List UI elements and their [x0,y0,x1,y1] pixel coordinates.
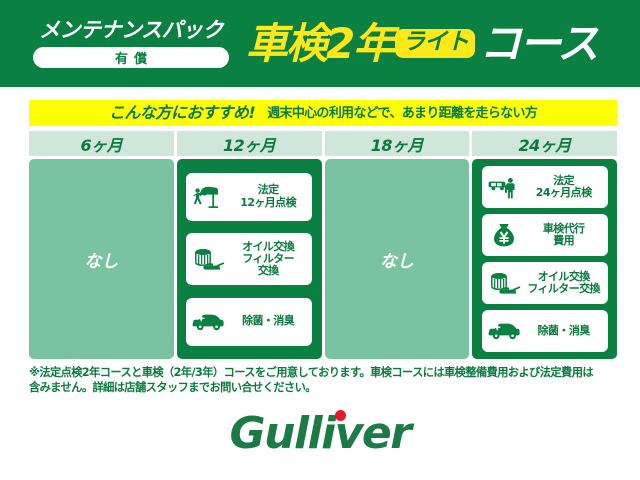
service-card-legal-12month-inspection: 法定 12ヶ月点検 [186,173,312,221]
paid-badge: 有償 [33,47,229,68]
service-label-legal-12month-inspection: 法定 12ヶ月点検 [227,184,309,209]
oil-filter-change-icon [485,268,523,298]
service-label-legal-24month-inspection: 法定 24ヶ月点検 [523,175,605,200]
service-card-inspection-agency-fee: 車検代行 費用 [482,214,608,256]
service-card-oil-filter-change-24m: オイル交換 フィルター交換 [482,262,608,304]
oil-filter-change-icon [189,244,227,274]
column-body-18months: なし [325,159,470,359]
recommendation-detail: 週末中心の利用などで、あまり距離を走らない方 [267,107,537,120]
footnote-line-1: ※法定点検2年コースと車検（2年/3年）コースをご用意しております。車検コースに… [29,366,621,381]
column-header-24months: 24ヶ月 [472,131,617,156]
column-header-6months: 6ヶ月 [29,131,174,156]
service-card-oil-filter-change-12m: オイル交換 フィルター 交換 [186,233,312,285]
gulliver-logo-dot-icon [335,410,346,421]
footnote: ※法定点検2年コースと車検（2年/3年）コースをご用意しております。車検コースに… [29,366,621,396]
column-header-18months: 18ヶ月 [325,131,470,156]
plan-column-18months: 18ヶ月 なし [325,131,470,359]
promo-page: メンテナンスパック 有償 車検2年 ライト コース こんな方におすすめ! 週末中… [0,0,640,480]
course-shaken-2year-text: 車検2年 [246,23,393,65]
header-band: メンテナンスパック 有償 車検2年 ライト コース [0,0,640,87]
header-course-group: 車検2年 ライト コース [246,23,640,65]
header-left-group: メンテナンスパック 有償 [22,20,240,68]
car-lift-inspection-icon [189,182,227,212]
plan-column-6months: 6ヶ月 なし [29,131,174,359]
recommendation-headline: こんな方におすすめ! [109,105,255,121]
gulliver-logo-text: Gulliver [230,408,411,459]
maintenance-pack-title: メンテナンスパック [39,20,223,41]
car-sparkle-icon [189,307,227,337]
course-suffix-text: コース [479,23,597,65]
brand-logo-area: Gulliver [0,412,640,456]
car-sparkle-icon [485,316,523,346]
column-body-12months: 法定 12ヶ月点検 [177,159,322,359]
service-card-legal-24month-inspection: 法定 24ヶ月点検 [482,166,608,208]
car-person-inspection-icon [485,172,523,202]
service-label-oil-filter-change-24m: オイル交換 フィルター交換 [523,271,605,296]
plan-table: 6ヶ月 なし 12ヶ月 [29,131,617,359]
service-label-sanitize-deodorize-24m: 除菌・消臭 [523,325,605,337]
none-label-18months: なし [380,247,414,272]
service-card-sanitize-deodorize-24m: 除菌・消臭 [482,310,608,352]
footnote-line-2: 含みません。詳細は店舗スタッフまでお問い合せください。 [29,381,621,396]
plan-column-12months: 12ヶ月 [177,131,322,359]
gulliver-logo: Gulliver [230,412,411,456]
column-header-12months: 12ヶ月 [177,131,322,156]
service-label-oil-filter-change-12m: オイル交換 フィルター 交換 [227,241,309,278]
service-card-sanitize-deodorize-12m: 除菌・消臭 [186,298,312,346]
column-body-6months: なし [29,159,174,359]
service-label-sanitize-deodorize-12m: 除菌・消臭 [227,315,309,327]
column-body-24months: 法定 24ヶ月点検 [472,159,617,359]
service-label-inspection-agency-fee: 車検代行 費用 [523,223,605,248]
money-bag-yen-icon [485,220,523,250]
recommendation-banner: こんな方におすすめ! 週末中心の利用などで、あまり距離を走らない方 [29,100,617,126]
none-label-6months: なし [84,247,118,272]
plan-column-24months: 24ヶ月 [472,131,617,359]
light-plan-badge: ライト [395,29,475,58]
